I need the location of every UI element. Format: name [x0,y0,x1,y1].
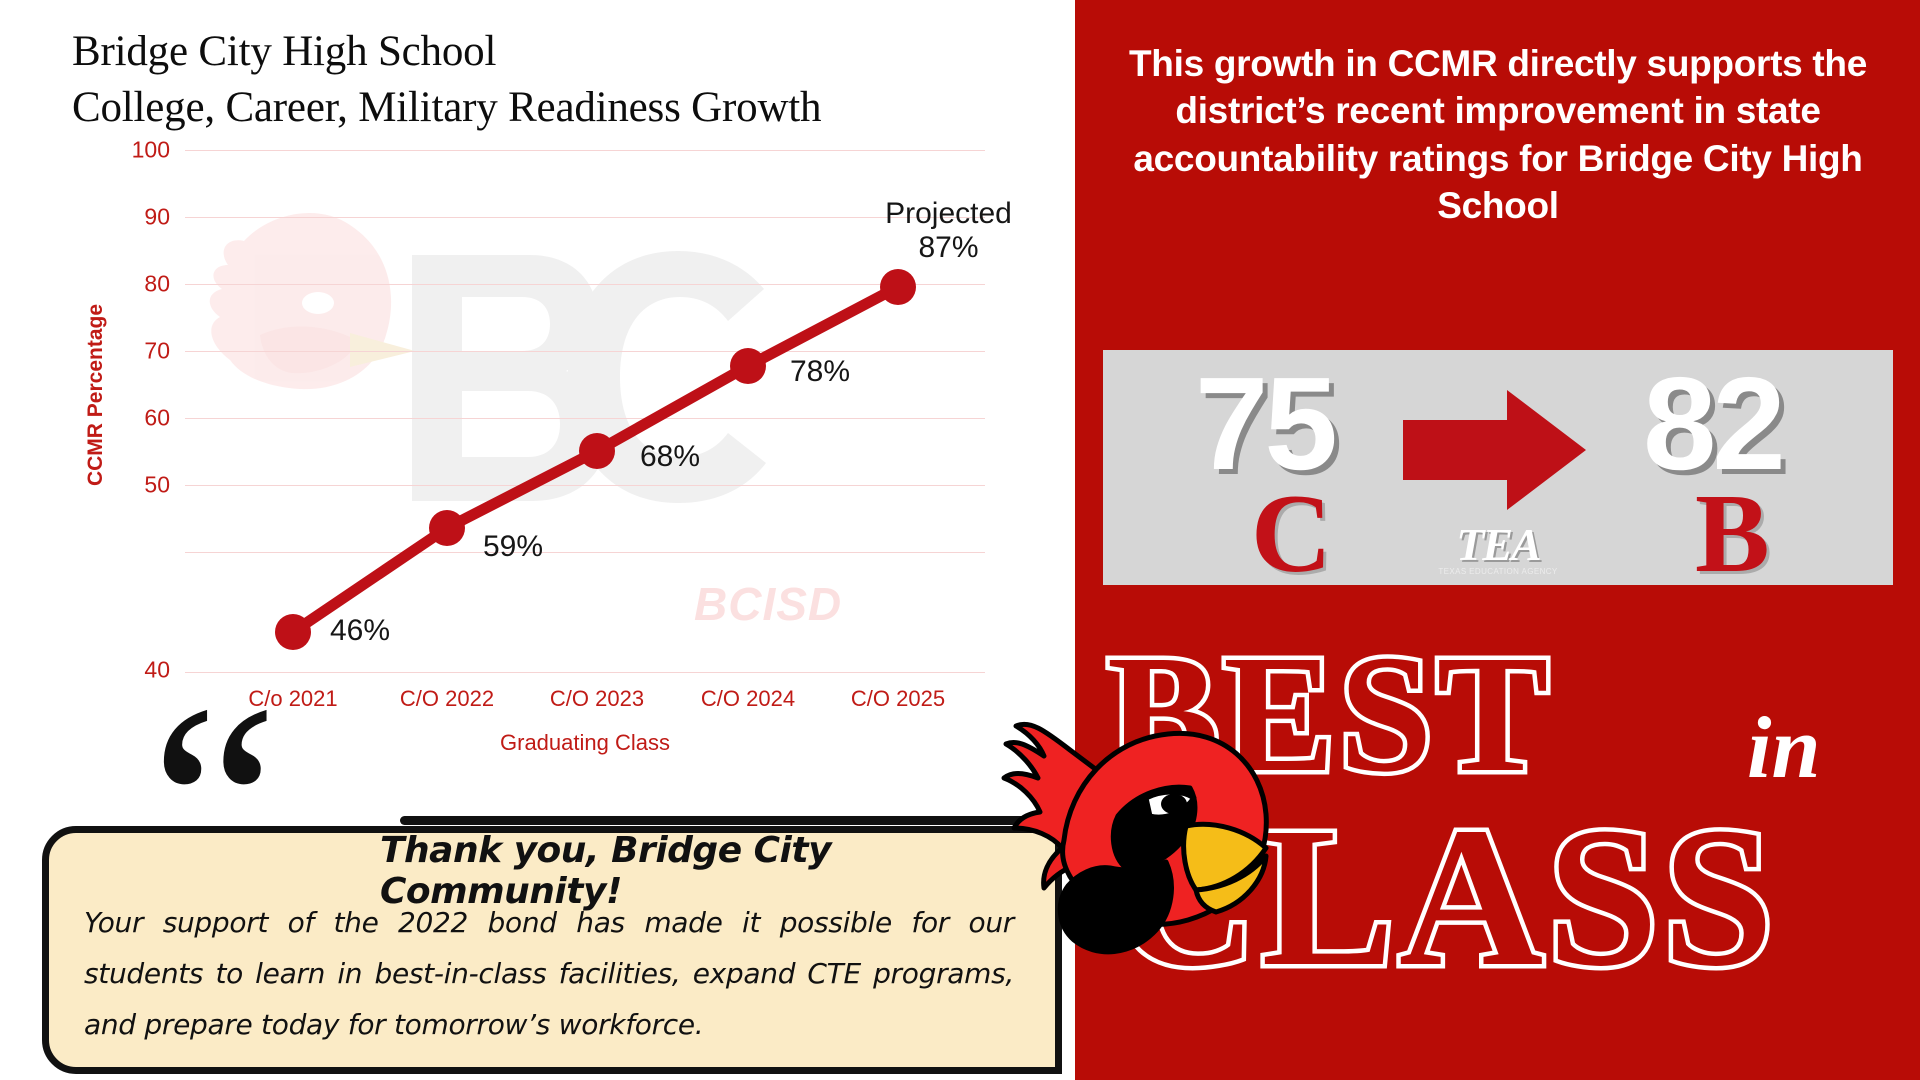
quote-top-rule [400,816,1060,825]
state-rating-card: 75 C TEA TEXAS EDUCATION AGENCY 82 B [1103,350,1893,585]
after-score: 82 [1643,358,1782,490]
data-label: 59% [483,530,543,564]
data-point [730,348,766,384]
x-axis-label: Graduating Class [500,730,670,756]
before-score: 75 [1195,358,1334,490]
arrow-right-icon [1403,388,1588,513]
data-label: 87% [856,231,1041,265]
x-tick: C/O 2025 [851,686,945,712]
data-point [880,269,916,305]
quote-mark-icon: “ [150,716,281,896]
projected-note: Projected [856,197,1041,231]
data-point [579,433,615,469]
tea-logo-text: TEA [1413,518,1583,571]
x-tick: C/O 2022 [400,686,494,712]
tea-logo-subtext: TEXAS EDUCATION AGENCY [1413,567,1583,576]
data-label: 78% [790,355,850,389]
before-grade: C [1251,478,1332,590]
data-label: 46% [330,614,390,648]
tea-logo: TEA TEXAS EDUCATION AGENCY [1413,518,1583,576]
infographic-canvas: Bridge City High School College, Career,… [0,0,1920,1080]
after-grade: B [1695,478,1770,590]
data-label: 68% [640,440,700,474]
x-tick: C/O 2024 [701,686,795,712]
data-point [429,510,465,546]
quote-body-text: Your support of the 2022 bond has made i… [84,898,1014,1051]
cardinal-mascot-icon [1000,690,1280,990]
left-chart-panel: Bridge City High School College, Career,… [0,0,1075,1080]
accountability-headline: This growth in CCMR directly supports th… [1093,40,1903,229]
x-tick: C/O 2023 [550,686,644,712]
bic-word-in: in [1747,698,1820,799]
